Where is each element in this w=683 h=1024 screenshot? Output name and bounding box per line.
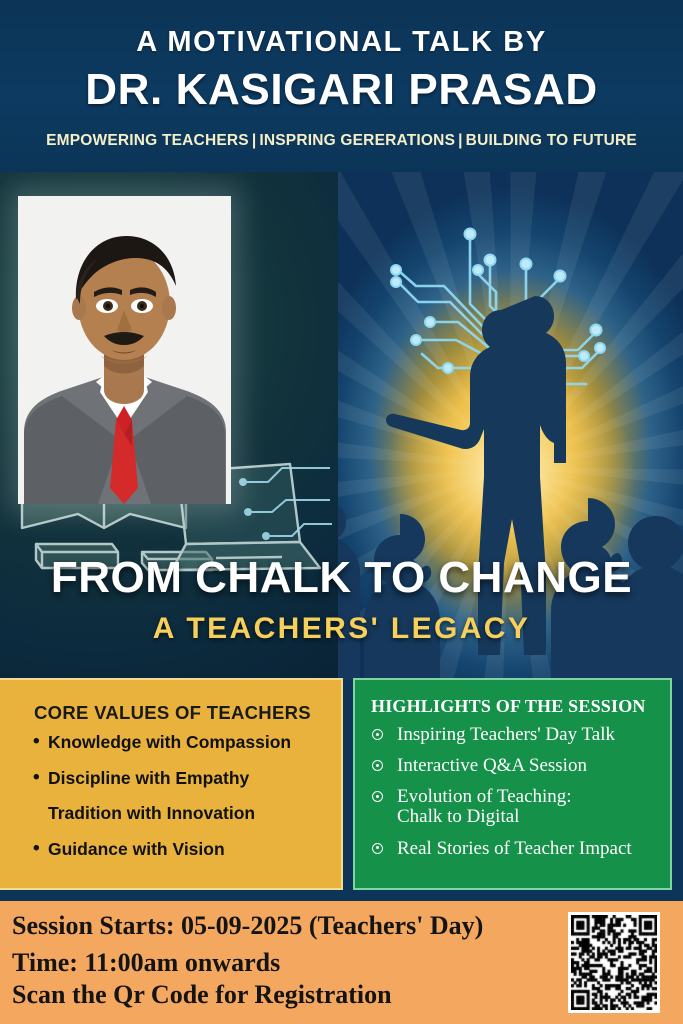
list-item: Guidance with Vision xyxy=(0,841,341,859)
tagline-part-3: BUILDING TO FUTURE xyxy=(466,132,637,149)
session-time-text: Time: 11:00am onwards xyxy=(12,942,560,979)
poster-title-block: FROM CHALK TO CHANGE A TEACHERS' LEGACY xyxy=(0,556,683,644)
list-item: Interactive Q&A Session xyxy=(355,756,670,776)
list-item-text: Evolution of Teaching: xyxy=(397,786,572,807)
speaker-photo xyxy=(18,196,231,504)
list-item: Knowledge with Compassion xyxy=(0,734,341,752)
highlights-heading: HIGHLIGHTS OF THE SESSION xyxy=(355,680,670,721)
highlights-list: Inspiring Teachers' Day Talk Interactive… xyxy=(355,721,670,859)
tagline-part-2: INSPRING GERERATIONS xyxy=(259,132,455,149)
list-item-text-line2: Chalk to Digital xyxy=(397,807,670,827)
ring-bullet-icon xyxy=(372,843,383,854)
avatar xyxy=(18,196,231,504)
speaker-photo-frame xyxy=(18,196,231,504)
scan-instruction-text: Scan the Qr Code for Registration xyxy=(12,978,560,1011)
speaker-name: DR. KASIGARI PRASAD xyxy=(0,57,683,112)
list-item: Inspiring Teachers' Day Talk xyxy=(355,725,670,745)
session-start-text: Session Starts: 05-09-2025 (Teachers' Da… xyxy=(12,911,560,942)
registration-qr-code[interactable] xyxy=(568,912,660,1013)
event-poster: A MOTIVATIONAL TALK BY DR. KASIGARI PRAS… xyxy=(0,0,683,1024)
title-main: FROM CHALK TO CHANGE xyxy=(0,556,683,600)
list-item-text: Inspiring Teachers' Day Talk xyxy=(397,724,615,745)
ring-bullet-icon xyxy=(372,791,383,802)
list-item-text: Real Stories of Teacher Impact xyxy=(397,838,632,859)
list-item: Evolution of Teaching: Chalk to Digital xyxy=(355,787,670,827)
footer-text-block: Session Starts: 05-09-2025 (Teachers' Da… xyxy=(12,911,560,1011)
core-values-heading: CORE VALUES OF TEACHERS xyxy=(0,680,341,730)
ring-bullet-icon xyxy=(372,729,383,740)
header-tagline: EMPOWERING TEACHERS|INSPRING GERERATIONS… xyxy=(0,112,683,149)
ring-bullet-icon xyxy=(372,760,383,771)
list-item: Discipline with Empathy xyxy=(0,770,341,788)
list-item: Tradition with Innovation xyxy=(0,805,341,823)
core-values-panel: CORE VALUES OF TEACHERS Knowledge with C… xyxy=(0,678,343,890)
poster-header: A MOTIVATIONAL TALK BY DR. KASIGARI PRAS… xyxy=(0,0,683,172)
tagline-separator: | xyxy=(455,132,466,149)
tagline-separator: | xyxy=(249,132,260,149)
title-sub: A TEACHERS' LEGACY xyxy=(0,600,683,644)
core-values-list: Knowledge with Compassion Discipline wit… xyxy=(0,730,341,858)
tagline-part-1: EMPOWERING TEACHERS xyxy=(46,132,249,149)
qr-code-icon[interactable] xyxy=(571,915,657,1010)
list-item-text: Interactive Q&A Session xyxy=(397,755,587,776)
highlights-panel: HIGHLIGHTS OF THE SESSION Inspiring Teac… xyxy=(353,678,672,890)
header-kicker: A MOTIVATIONAL TALK BY xyxy=(0,0,683,57)
list-item: Real Stories of Teacher Impact xyxy=(355,839,670,859)
